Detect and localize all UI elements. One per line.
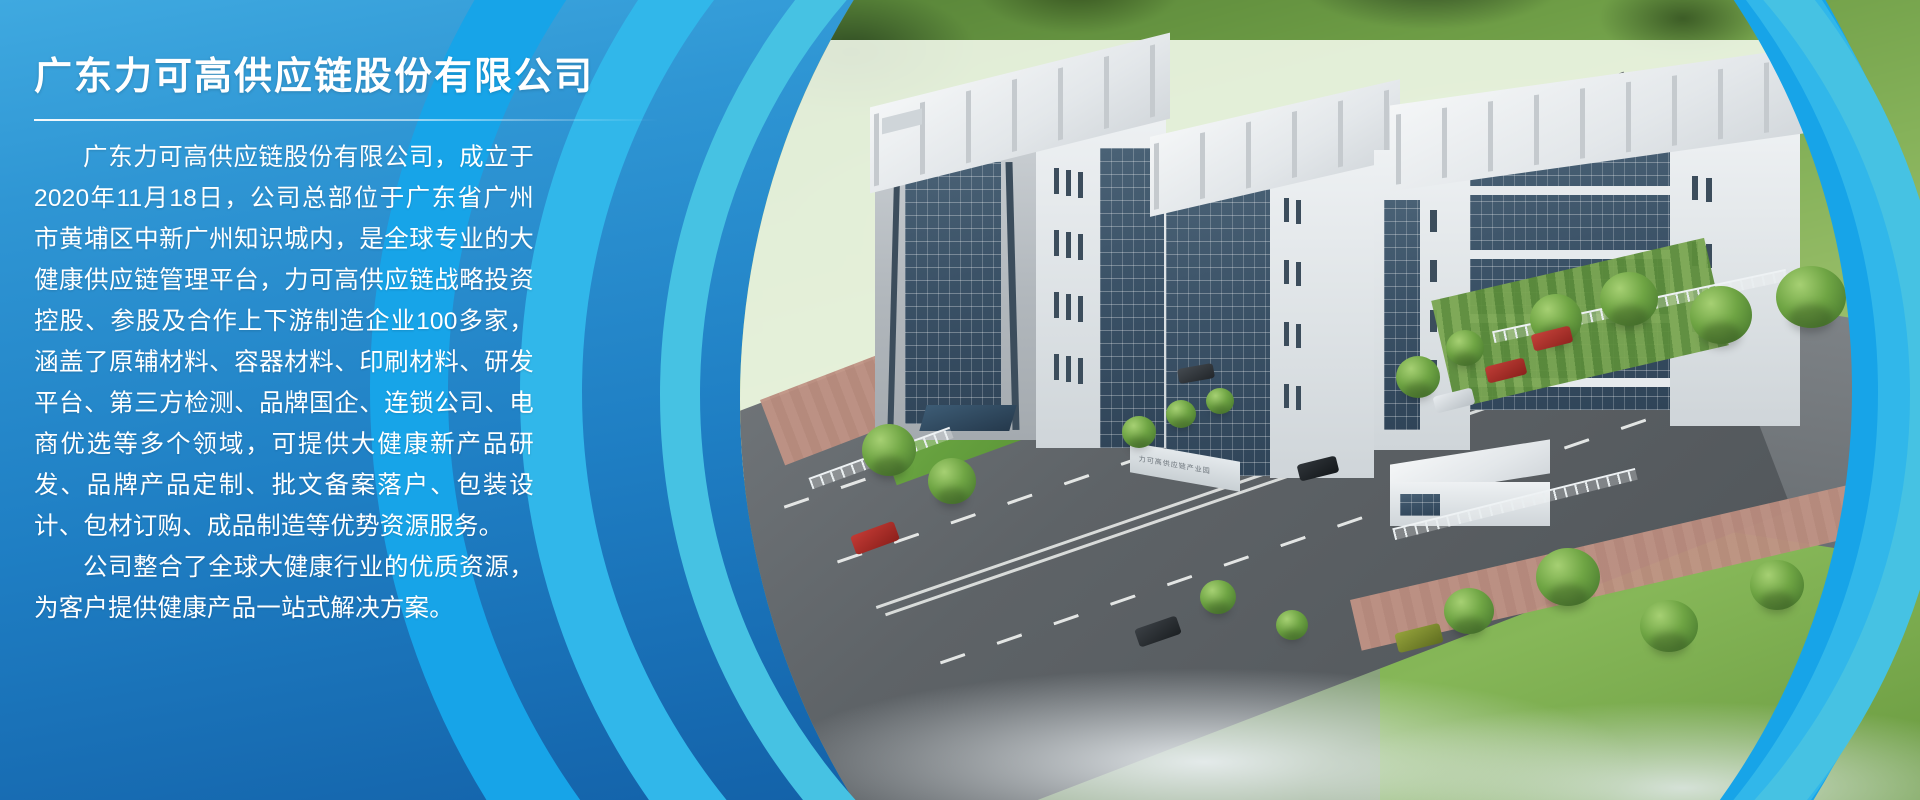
company-description: 广东力可高供应链股份有限公司，成立于2020年11月18日，公司总部位于广东省广… bbox=[34, 137, 534, 629]
page-title: 广东力可高供应链股份有限公司 bbox=[34, 52, 720, 103]
entrance-canopy bbox=[919, 405, 1016, 431]
paragraph-1: 广东力可高供应链股份有限公司，成立于2020年11月18日，公司总部位于广东省广… bbox=[34, 137, 534, 547]
building-tower-front-side bbox=[1036, 112, 1166, 448]
tree bbox=[928, 458, 976, 504]
tree bbox=[1690, 286, 1752, 344]
company-intro-panel: 广东力可高供应链股份有限公司 广东力可高供应链股份有限公司，成立于2020年11… bbox=[0, 0, 720, 800]
image-bottom-haze bbox=[700, 580, 1920, 800]
paragraph-2: 公司整合了全球大健康行业的优质资源，为客户提供健康产品一站式解决方案。 bbox=[34, 547, 534, 629]
company-profile-banner: 力可高供应链产业园 广东力可高供应链股份有限公司 bbox=[0, 0, 1920, 800]
tree bbox=[1776, 266, 1846, 328]
title-divider bbox=[34, 119, 660, 121]
tree bbox=[1446, 330, 1484, 366]
tree bbox=[862, 424, 916, 476]
tree bbox=[1122, 416, 1156, 448]
tree bbox=[1166, 400, 1196, 428]
signboard-text: 力可高供应链产业园 bbox=[1139, 453, 1211, 476]
building-tower-second-side bbox=[1270, 148, 1374, 478]
tree bbox=[1396, 356, 1440, 398]
tree bbox=[1600, 272, 1658, 326]
tree bbox=[1206, 388, 1234, 414]
